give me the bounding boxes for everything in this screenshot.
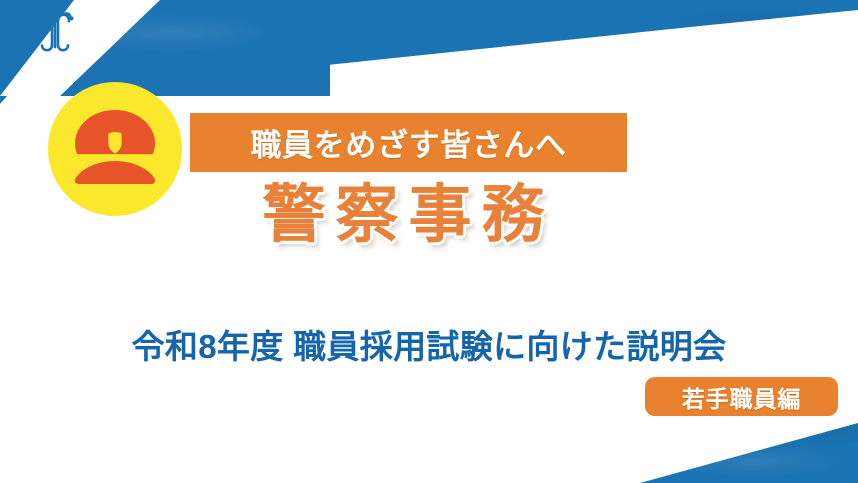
bottom-paper-texture [0, 409, 858, 483]
police-cap-badge [48, 82, 182, 216]
page-title: 警察事務 [190, 182, 627, 248]
mie-prefecture-emblem-icon [33, 7, 77, 55]
subtitle-text: 令和8年度 職員採用試験に向けた説明会 [0, 320, 858, 368]
presentation-title-slide: 職員をめざす皆さんへ 警察事務 令和8年度 職員採用試験に向けた説明会 若手職員… [0, 0, 858, 483]
police-cap-icon [63, 106, 167, 192]
eyebrow-banner-text: 職員をめざす皆さんへ [250, 120, 566, 165]
audience-tag-label: 若手職員編 [682, 380, 802, 414]
eyebrow-banner: 職員をめざす皆さんへ [190, 113, 627, 172]
audience-tag-badge: 若手職員編 [645, 377, 838, 416]
bottom-blue-wedge-shape [0, 409, 858, 483]
